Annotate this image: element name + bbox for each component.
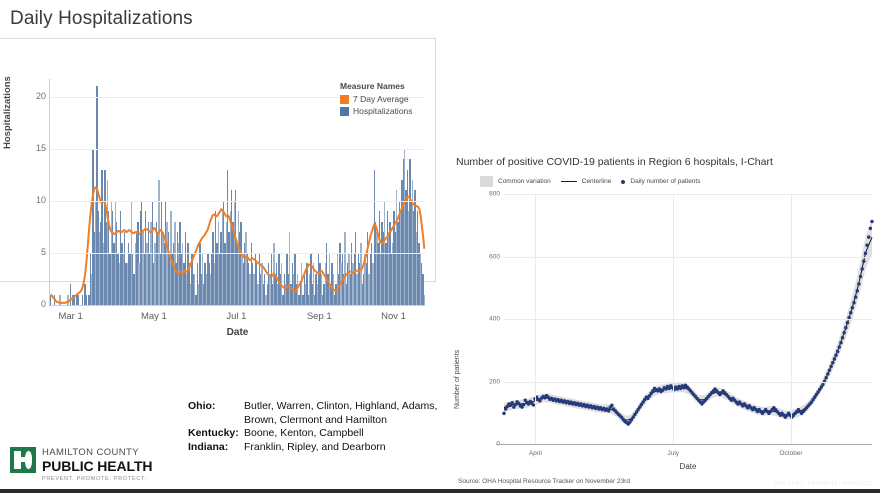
daily-patient-point [846, 321, 849, 324]
daily-patient-point [864, 252, 867, 255]
daily-patient-point [841, 336, 844, 339]
county-values-indiana: Franklin, Ripley, and Dearborn [244, 441, 386, 455]
legend-item-common-variation[interactable]: Common variation [480, 176, 551, 187]
daily-patient-point [836, 350, 839, 353]
daily-patient-point [860, 267, 863, 270]
right-gridline-vertical [535, 194, 536, 444]
right-y-tick-600: 600 [476, 253, 500, 260]
watermark-tagline: PREVENT. PROMOTE. PROTECT. [775, 481, 874, 487]
slide-bottom-rule [0, 489, 880, 493]
county-row-ohio: Ohio: Butler, Warren, Clinton, Highland,… [188, 400, 437, 414]
right-y-axis-title: Number of patients [454, 350, 461, 409]
daily-patient-point [522, 403, 525, 406]
public-health-logo-icon [10, 447, 36, 473]
left-y-tick-5: 5 [20, 247, 46, 257]
daily-patient-point [842, 331, 845, 334]
daily-patient-point [856, 289, 859, 292]
daily-patient-point [854, 295, 857, 298]
left-y-tick-0: 0 [20, 299, 46, 309]
daily-hospitalizations-chart: Hospitalizations 05101520 Mar 1May 1Jul … [0, 38, 436, 282]
right-y-axis-ticks: 0200400600800 [462, 194, 500, 444]
daily-patient-point [510, 401, 513, 404]
left-gridline [50, 201, 425, 202]
right-x-axis-title: Date [504, 462, 872, 471]
county-label-kentucky: Kentucky: [188, 427, 244, 441]
legend-swatch-centerline [561, 181, 577, 182]
daily-patient-point [826, 372, 829, 375]
right-y-tick-800: 800 [476, 191, 500, 198]
county-label-indiana: Indiana: [188, 441, 244, 455]
left-x-tick-may-1: May 1 [141, 311, 167, 322]
daily-patient-point [849, 311, 852, 314]
left-x-tick-jul-1: Jul 1 [226, 311, 246, 322]
legend-item-hospitalizations[interactable]: Hospitalizations [340, 106, 435, 116]
legend-label-daily-patients: Daily number of patients [630, 178, 700, 185]
county-label-ohio: Ohio: [188, 400, 244, 414]
left-x-axis-ticks: Mar 1May 1Jul 1Sep 1Nov 1 [50, 311, 425, 325]
left-y-tick-15: 15 [20, 143, 46, 153]
measure-names-legend: Measure Names 7 Day Average Hospitalizat… [340, 81, 435, 118]
daily-patient-point [610, 404, 613, 407]
daily-patient-point [867, 235, 870, 238]
legend-item-daily-patients[interactable]: Daily number of patients [621, 178, 700, 185]
right-chart-title: Number of positive COVID-19 patients in … [456, 156, 773, 168]
daily-patient-point [838, 345, 841, 348]
legend-label-common-variation: Common variation [498, 178, 551, 185]
daily-patient-point [859, 275, 862, 278]
daily-patient-point [852, 301, 855, 304]
right-gridline [504, 319, 872, 320]
legend-label-centerline: Centerline [582, 178, 612, 185]
right-gridline [504, 257, 872, 258]
logo-line-hamilton-county: HAMILTON COUNTY [42, 448, 152, 458]
right-plot-wrap: Number of patients 0200400600800 [448, 194, 880, 444]
left-gridline [50, 149, 425, 150]
left-y-tick-10: 10 [20, 195, 46, 205]
daily-patient-point [844, 326, 847, 329]
daily-patient-point [829, 365, 832, 368]
left-x-tick-sep-1: Sep 1 [307, 311, 332, 322]
logo-line-public-health: PUBLIC HEALTH [42, 459, 152, 473]
left-x-tick-mar-1: Mar 1 [58, 311, 82, 322]
legend-label-7-day-average: 7 Day Average [353, 94, 409, 104]
right-gridline [504, 194, 872, 195]
right-gridline [504, 382, 872, 383]
legend-item-7-day-average[interactable]: 7 Day Average [340, 94, 435, 104]
county-row-kentucky: Kentucky: Boone, Kenton, Campbell [188, 427, 437, 441]
county-values-kentucky: Boone, Kenton, Campbell [244, 427, 364, 441]
logo-tagline: PREVENT. PROMOTE. PROTECT. [42, 477, 152, 483]
legend-swatch-hospitalizations [340, 107, 349, 116]
hamilton-county-public-health-logo: HAMILTON COUNTY PUBLIC HEALTH PREVENT. P… [10, 447, 152, 482]
daily-patient-point [869, 227, 872, 230]
legend-label-hospitalizations: Hospitalizations [353, 106, 413, 116]
legend-swatch-daily-patients [621, 180, 625, 184]
daily-patient-point [825, 376, 828, 379]
right-x-tick-july: July [667, 450, 679, 457]
daily-patient-point [870, 220, 873, 223]
county-row-indiana: Indiana: Franklin, Ripley, and Dearborn [188, 441, 437, 455]
right-y-tick-400: 400 [476, 316, 500, 323]
slide-root: Daily Hospitalizations Hospitalizations … [0, 0, 880, 493]
left-y-axis-ticks: 05101520 [12, 77, 46, 309]
daily-patient-point [831, 361, 834, 364]
legend-swatch-7-day-average [340, 95, 349, 104]
county-coverage-list: Ohio: Butler, Warren, Clinton, Highland,… [188, 400, 437, 454]
right-gridline-vertical [673, 194, 674, 444]
county-values-ohio: Butler, Warren, Clinton, Highland, Adams… [244, 400, 437, 414]
page-title: Daily Hospitalizations [10, 8, 193, 30]
right-plot-area [504, 194, 872, 444]
daily-patient-point [839, 341, 842, 344]
legend-swatch-common-variation [480, 176, 493, 187]
left-gridline [50, 305, 425, 306]
right-chart-source: Source: OHA Hospital Resource Tracker on… [458, 478, 630, 485]
daily-patient-point [821, 383, 824, 386]
daily-patient-point [865, 244, 868, 247]
left-gridline [50, 253, 425, 254]
daily-patient-point [851, 306, 854, 309]
daily-patient-point [833, 357, 836, 360]
right-x-axis-ticks: AprilJulyOctober [504, 450, 872, 462]
right-gridline-vertical [791, 194, 792, 444]
legend-item-centerline[interactable]: Centerline [561, 178, 612, 185]
daily-patient-point [857, 282, 860, 285]
left-chart-panel: Daily Hospitalizations Hospitalizations … [0, 0, 438, 300]
daily-patient-point [607, 409, 610, 412]
right-x-tick-april: April [529, 450, 542, 457]
daily-patient-point [828, 369, 831, 372]
legend-title: Measure Names [340, 81, 435, 91]
daily-patient-point [502, 412, 505, 415]
left-x-axis-title: Date [50, 327, 425, 338]
right-x-tick-october: October [779, 450, 802, 457]
daily-patient-point [834, 354, 837, 357]
i-chart-legend: Common variation Centerline Daily number… [480, 176, 700, 187]
left-y-tick-20: 20 [20, 91, 46, 101]
region6-i-chart-panel: Number of positive COVID-19 patients in … [448, 150, 880, 490]
logo-text-block: HAMILTON COUNTY PUBLIC HEALTH PREVENT. P… [42, 447, 152, 482]
right-y-tick-200: 200 [476, 378, 500, 385]
right-gridline [496, 444, 872, 445]
daily-patient-point [862, 259, 865, 262]
left-x-tick-nov-1: Nov 1 [381, 311, 406, 322]
county-values-ohio-cont: Brown, Clermont and Hamilton [244, 414, 437, 428]
seven-day-average-polyline [51, 187, 425, 303]
